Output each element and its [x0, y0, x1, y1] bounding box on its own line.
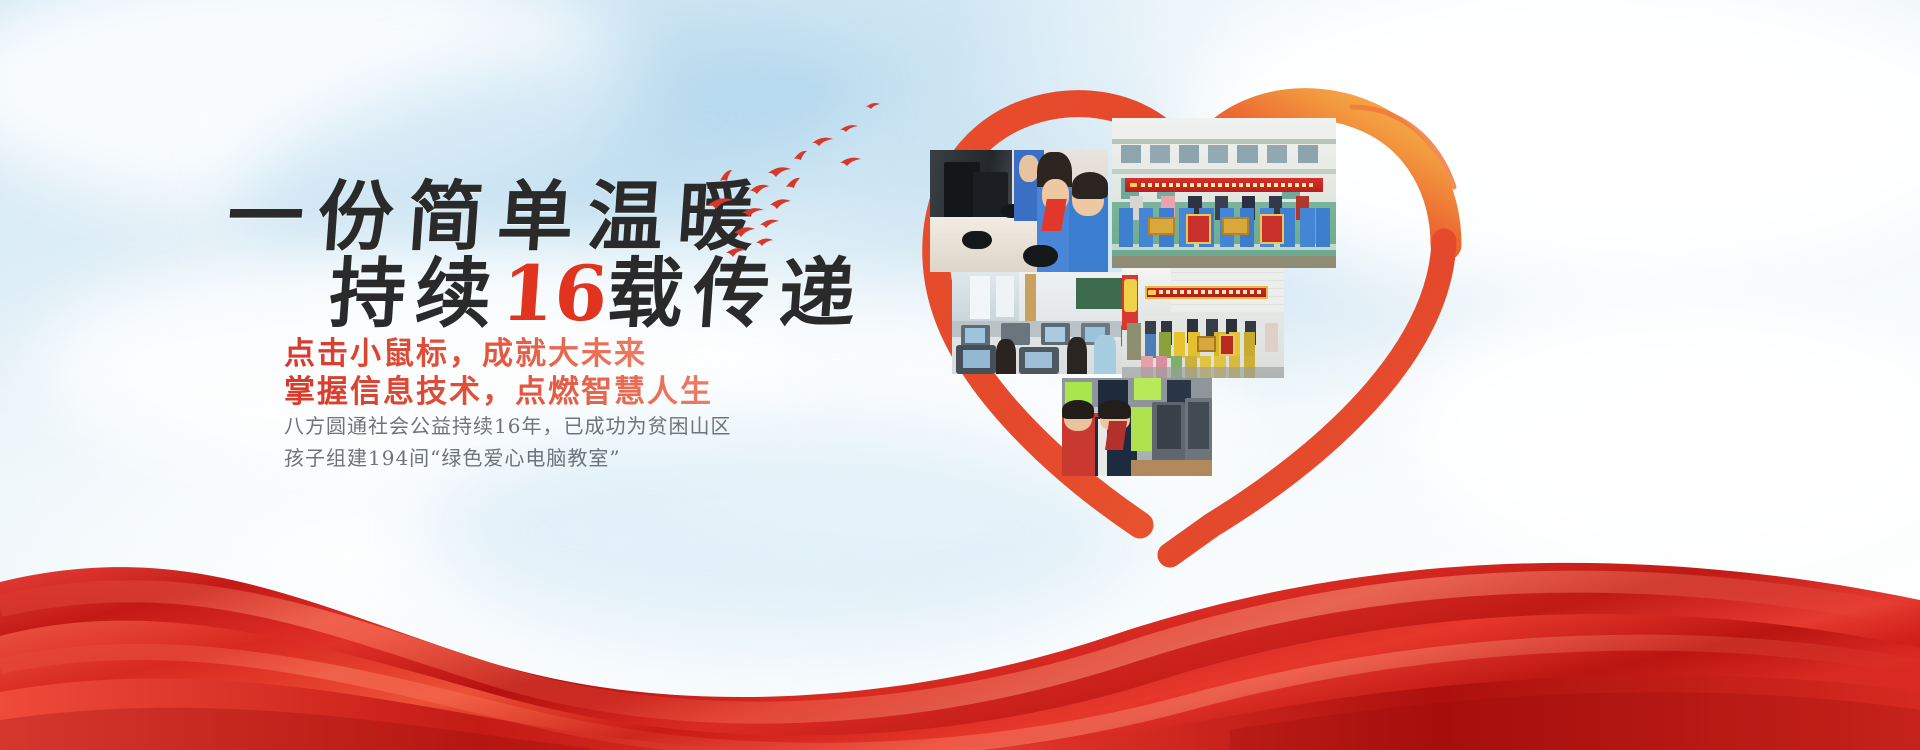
headline-line-2-prefix: 持续: [326, 249, 504, 338]
photo-children-at-computer: [1062, 378, 1212, 476]
photo-computer-lab-students: [930, 150, 1108, 272]
headline-years-number: 16: [498, 249, 610, 338]
charity-banner: 一份简单温暖 持续16载传递 点击小鼠标，成就大未来 掌握信息技术，点燃智慧人生…: [0, 0, 1920, 750]
photo-school-donation-ceremony: [1112, 118, 1336, 268]
subtitle-line-2: 掌握信息技术，点燃智慧人生: [284, 366, 713, 411]
photo-group-award-ceremony: [1122, 268, 1284, 378]
red-silk-ribbon-wave: [0, 430, 1920, 750]
